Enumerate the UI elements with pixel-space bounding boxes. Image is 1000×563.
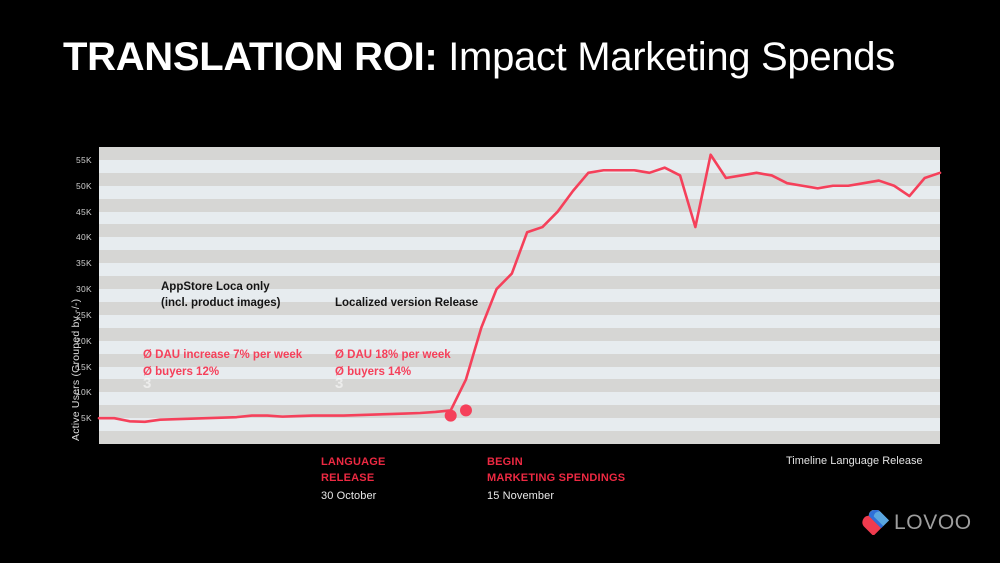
y-axis-tick-label: 55K <box>46 155 92 165</box>
series-event-marker <box>445 410 457 422</box>
callout-begin-marketing-head1: BEGIN <box>487 455 625 471</box>
callout-language-release-head2: RELEASE <box>321 471 386 487</box>
y-axis-tick-label: 50K <box>46 181 92 191</box>
page-title: TRANSLATION ROI: Impact Marketing Spends <box>63 31 895 83</box>
annotation-localized-release: Localized version Release <box>335 295 478 311</box>
stats-phase-1-buyers: Ø buyers 12% <box>143 364 302 381</box>
y-axis-ticks: 5K10K15K20K25K30K35K40K45K50K55K <box>42 147 92 444</box>
stats-phase-1-ghost: 3 <box>143 375 151 392</box>
page-title-subject: Impact Marketing Spends <box>437 35 894 79</box>
callout-language-release-head1: LANGUAGE <box>321 455 386 471</box>
annotation-appstore-loca-line2: (incl. product images) <box>161 295 281 311</box>
stats-phase-2: Ø DAU 18% per week Ø buyers 14% <box>335 347 451 381</box>
y-axis-tick-label: 25K <box>46 310 92 320</box>
annotation-appstore-loca: AppStore Loca only (incl. product images… <box>161 279 281 311</box>
y-axis-tick-label: 30K <box>46 284 92 294</box>
stats-phase-1: Ø DAU increase 7% per week Ø buyers 12% <box>143 347 302 381</box>
y-axis-tick-label: 35K <box>46 258 92 268</box>
series-event-marker <box>460 404 472 416</box>
y-axis-tick-label: 45K <box>46 207 92 217</box>
callout-begin-marketing: BEGIN MARKETING SPENDINGS 15 November <box>487 455 625 504</box>
y-axis-tick-label: 10K <box>46 387 92 397</box>
series-marker-group <box>445 404 472 421</box>
x-axis-title: Timeline Language Release <box>786 455 923 467</box>
lovoo-heart-icon <box>862 510 889 535</box>
lovoo-wordmark: LOVOO <box>894 512 972 533</box>
y-axis-tick-label: 5K <box>46 413 92 423</box>
y-axis-tick-label: 15K <box>46 362 92 372</box>
callout-language-release: LANGUAGE RELEASE 30 October <box>321 455 386 504</box>
stats-phase-2-dau: Ø DAU 18% per week <box>335 347 451 364</box>
page-title-emphasis: TRANSLATION ROI: <box>63 35 437 79</box>
stats-phase-2-buyers: Ø buyers 14% <box>335 364 451 381</box>
callout-begin-marketing-date: 15 November <box>487 488 625 504</box>
stats-phase-1-dau: Ø DAU increase 7% per week <box>143 347 302 364</box>
stats-phase-2-ghost: 3 <box>335 375 343 392</box>
chart-plot-area: AppStore Loca only (incl. product images… <box>99 147 940 444</box>
callout-language-release-date: 30 October <box>321 488 386 504</box>
annotation-localized-release-line1: Localized version Release <box>335 295 478 311</box>
lovoo-logo: LOVOO <box>862 506 972 538</box>
annotation-appstore-loca-line1: AppStore Loca only <box>161 279 281 295</box>
y-axis-tick-label: 20K <box>46 336 92 346</box>
y-axis-tick-label: 40K <box>46 232 92 242</box>
callout-begin-marketing-head2: MARKETING SPENDINGS <box>487 471 625 487</box>
